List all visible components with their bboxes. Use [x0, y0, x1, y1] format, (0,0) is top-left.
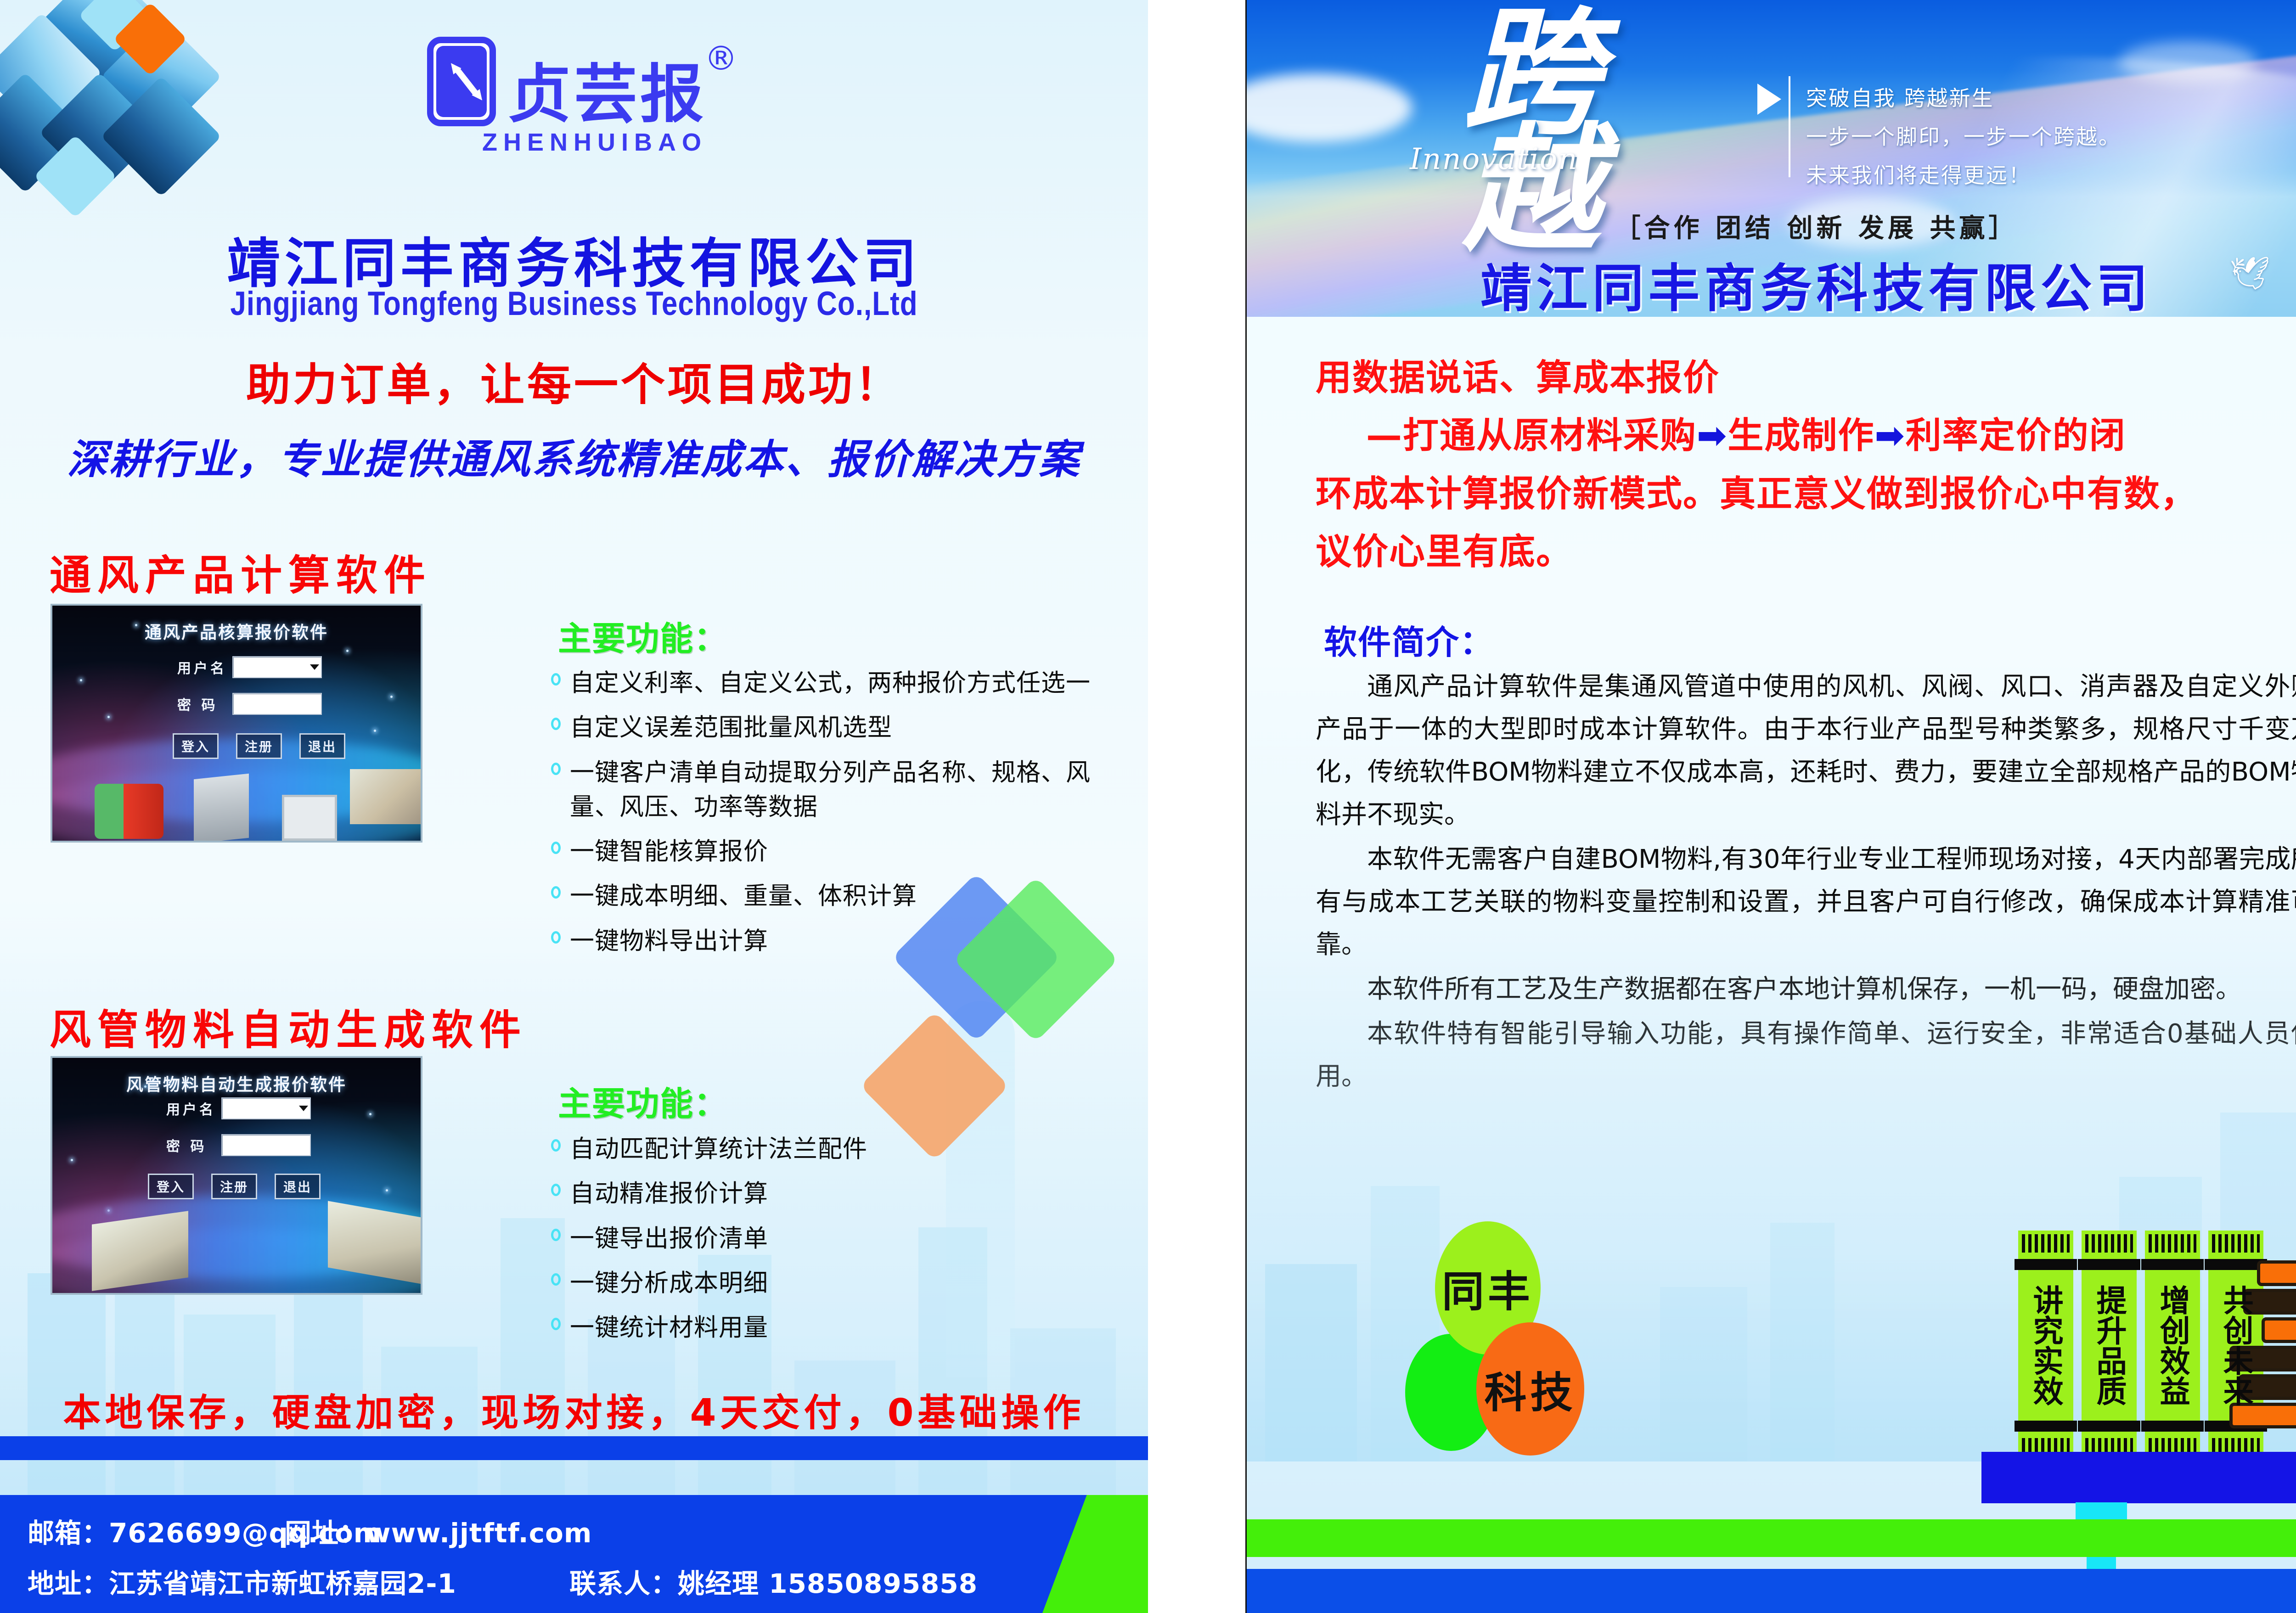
list-item: 自动精准报价计算 — [551, 1176, 1134, 1211]
brand-logo: 贞芸报 ® ZHENHUIBAO — [427, 37, 706, 126]
scroll-banner: 增创效益 — [2145, 1231, 2200, 1460]
username-label: 用户名 — [177, 657, 232, 677]
hero-tagline-2: 一步一个脚印，一步一个跨越。 — [1806, 120, 2121, 151]
features-heading-2: 主要功能： — [558, 1077, 728, 1125]
username-input[interactable] — [221, 1097, 311, 1119]
bullet-icon — [551, 1184, 561, 1196]
password-input[interactable] — [232, 693, 322, 715]
hero-tagline-3: 未来我们将走得更远！ — [1806, 159, 2031, 189]
arrow-right-icon: ➡ — [1874, 415, 1905, 456]
list-item: 一键导出报价清单 — [551, 1221, 1134, 1256]
scroll-banner: 讲究实效 — [2018, 1231, 2073, 1460]
features-list-1: 自定义利率、自定义公式，两种报价方式任选一 自定义误差范围批量风机选型 一键客户… — [551, 666, 1134, 968]
hero-tagline-1: 突破自我 跨越新生 — [1806, 82, 1994, 112]
exit-button[interactable]: 退出 — [299, 733, 345, 759]
right-panel: 跨越 Innovation 突破自我 跨越新生 一步一个脚印，一步一个跨越。 未… — [1245, 0, 2296, 1613]
list-item: 自动匹配计算统计法兰配件 — [551, 1132, 1134, 1166]
software-intro-heading: 软件简介： — [1324, 615, 1494, 663]
list-item: 一键成本明细、重量、体积计算 — [551, 879, 1134, 913]
login-button[interactable]: 登入 — [148, 1174, 194, 1199]
section-title-ventilation-software: 通风产品计算软件 — [50, 542, 432, 601]
password-label: 密 码 — [177, 694, 232, 714]
hero-kuayue-calligraphy: 跨越 — [1463, 14, 1660, 207]
vertical-divider — [1789, 76, 1790, 177]
list-item: 一键客户清单自动提取分列产品名称、规格、风量、风压、功率等数据 — [551, 755, 1134, 825]
red-headline-block: 用数据说话、算成本报价 —打通从原材料采购➡生成制作➡利率定价的闭 环成本计算报… — [1316, 349, 2296, 581]
section-title-duct-material-software: 风管物料自动生成软件 — [50, 996, 527, 1056]
screenshot-ventilation-login: 通风产品核算报价软件 用户名 密 码 登入 注册 退出 — [51, 604, 422, 843]
blue-accent-bar — [1247, 1569, 2296, 1613]
logo-pinyin: ZHENHUIBAO — [482, 130, 707, 155]
list-item: 一键统计材料用量 — [551, 1310, 1134, 1345]
scroll-banner-group: 讲究实效 提升品质 增创效益 共创未来 — [2018, 1231, 2263, 1460]
list-item: 自定义误差范围批量风机选型 — [551, 710, 1134, 745]
product-fan-image — [95, 784, 163, 839]
platform-bar — [1981, 1452, 2296, 1503]
headline-line-1: 用数据说话、算成本报价 — [1316, 349, 2296, 407]
hero-innovation-text: Innovation — [1410, 142, 1578, 176]
password-input[interactable] — [221, 1134, 311, 1156]
registered-mark-icon: ® — [704, 42, 740, 75]
intro-paragraph: 通风产品计算软件是集通风管道中使用的风机、风阀、风口、消声器及自定义外购产品于一… — [1316, 666, 2296, 837]
contact-person-row: 联系人：姚经理 15850895858 — [569, 1562, 978, 1601]
bullet-icon — [551, 718, 561, 730]
register-button[interactable]: 注册 — [211, 1174, 257, 1199]
green-accent-bar — [1247, 1519, 2296, 1557]
bullet-icon — [551, 1139, 561, 1152]
z-arrow-logo-icon — [427, 37, 496, 126]
headline-line-3: 环成本计算报价新模式。真正意义做到报价心中有数， — [1316, 465, 2296, 523]
green-wedge-decoration — [1042, 1495, 1148, 1613]
contact-footer: 邮箱：7626699@qq.com 网址：www.jjtftf.com 地址：江… — [0, 1495, 1148, 1613]
left-panel: 贞芸报 ® ZHENHUIBAO 靖江同丰商务科技有限公司 Jingjiang … — [0, 0, 1148, 1613]
list-item: 一键分析成本明细 — [551, 1266, 1134, 1300]
screenshot-title: 通风产品核算报价软件 — [52, 618, 421, 643]
features-heading-1: 主要功能： — [558, 612, 728, 660]
hero-banner: 跨越 Innovation 突破自我 跨越新生 一步一个脚印，一步一个跨越。 未… — [1247, 0, 2296, 317]
register-button[interactable]: 注册 — [236, 733, 282, 759]
exit-button[interactable]: 退出 — [275, 1174, 321, 1199]
blue-divider-bar — [0, 1436, 1148, 1460]
bullet-icon — [551, 1273, 561, 1286]
scroll-banner: 提升品质 — [2082, 1231, 2137, 1460]
logo-chinese-name: 贞芸报 ® ZHENHUIBAO — [508, 63, 706, 126]
headline-line-4: 议价心里有底。 — [1316, 523, 2296, 581]
product-duct-image — [350, 769, 422, 824]
list-item: 一键智能核算报价 — [551, 834, 1134, 869]
address-row: 地址：江苏省靖江市新虹桥嘉园2-1 — [28, 1562, 456, 1601]
login-button[interactable]: 登入 — [173, 733, 219, 759]
hero-core-values: ［合作 团结 创新 发展 共赢］ — [1247, 208, 2296, 245]
arrow-right-icon: ➡ — [1697, 415, 1728, 456]
bullet-icon — [551, 1229, 561, 1241]
bottom-highlight-text: 本地保存，硬盘加密，现场对接，4天交付，0基础操作 — [0, 1382, 1148, 1437]
product-grille-image — [282, 795, 337, 841]
secondary-slogan: 深耕行业，专业提供通风系统精准成本、报价解决方案 — [0, 427, 1148, 485]
password-label: 密 码 — [166, 1135, 221, 1155]
bullet-icon — [551, 1318, 561, 1330]
bullet-icon — [551, 763, 561, 775]
headline-line-2: —打通从原材料采购➡生成制作➡利率定价的闭 — [1316, 407, 2296, 465]
list-item: 自定义利率、自定义公式，两种报价方式任选一 — [551, 666, 1134, 700]
screenshot-duct-login: 风管物料自动生成报价软件 用户名 密 码 登入 注册 退出 — [51, 1056, 422, 1295]
company-name-en: Jingjiang Tongfeng Business Technology C… — [0, 285, 1148, 323]
bullet-icon — [551, 673, 561, 686]
bullet-icon — [551, 931, 561, 944]
username-label: 用户名 — [166, 1098, 221, 1118]
poster-page: 贞芸报 ® ZHENHUIBAO 靖江同丰商务科技有限公司 Jingjiang … — [0, 0, 2296, 1613]
seagull-icon: 🕊 — [2229, 257, 2270, 289]
bullet-icon — [551, 886, 561, 899]
screenshot-title: 风管物料自动生成报价软件 — [52, 1071, 421, 1096]
diamond-mosaic-decoration — [0, 0, 185, 211]
list-item: 一键物料导出计算 — [551, 924, 1134, 958]
play-triangle-icon — [1757, 84, 1781, 115]
product-duct-image — [92, 1211, 188, 1291]
badge-keji: 科技 — [1476, 1322, 1584, 1456]
primary-slogan: 助力订单，让每一个项目成功！ — [0, 349, 1148, 413]
features-list-2: 自动匹配计算统计法兰配件 自动精准报价计算 一键导出报价清单 一键分析成本明细 … — [551, 1132, 1134, 1355]
username-input[interactable] — [232, 656, 322, 678]
hero-company-name: 靖江同丰商务科技有限公司 — [1247, 247, 2296, 317]
website-row[interactable]: 网址：www.jjtftf.com — [285, 1512, 592, 1550]
product-silencer-image — [194, 774, 249, 843]
bullet-icon — [551, 842, 561, 854]
